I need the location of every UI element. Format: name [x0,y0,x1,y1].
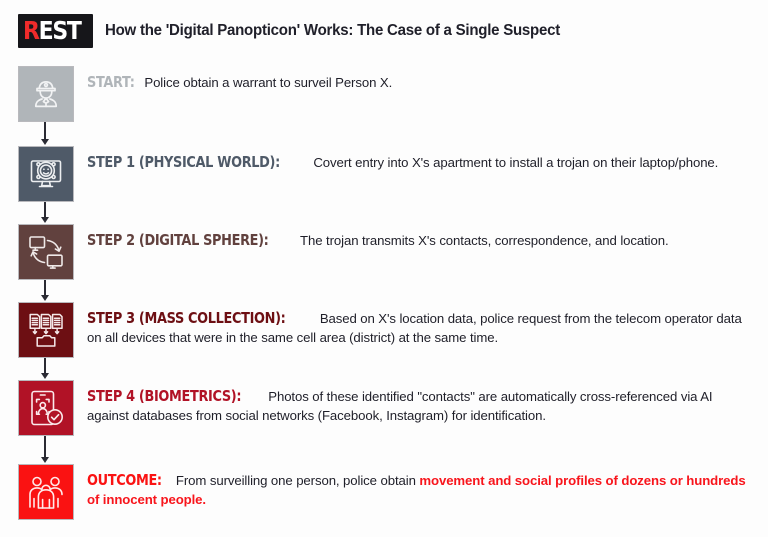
step-text-step-2: STEP 2 (DIGITAL SPHERE):The trojan trans… [87,224,669,251]
infographic-canvas: REST How the 'Digital Panopticon' Works:… [0,0,768,537]
step-text-step-3: STEP 3 (MASS COLLECTION):Based on X's lo… [87,302,747,348]
step-label-step-2: STEP 2 (DIGITAL SPHERE): [87,230,269,251]
step-label-outcome: OUTCOME: [87,470,162,491]
connector-step1-to-step2 [44,202,46,224]
data-transfer-monitors-icon [18,224,74,280]
step-row-outcome: OUTCOME:From surveilling one person, pol… [18,464,747,520]
monitor-trojan-icon [18,146,74,202]
step-row-step-1: STEP 1 (PHYSICAL WORLD):Covert entry int… [18,146,718,202]
logo-letters-est: EST [39,16,81,45]
step-body-start: Police obtain a warrant to surveil Perso… [144,75,392,90]
connector-step4-to-outcome [44,436,46,464]
step-row-start: START:Police obtain a warrant to surveil… [18,66,392,122]
police-officer-icon [18,66,74,122]
documents-to-folder-icon [18,302,74,358]
connector-start-to-step1 [44,122,46,146]
step-text-outcome: OUTCOME:From surveilling one person, pol… [87,464,747,510]
step-row-step-4: STEP 4 (BIOMETRICS):Photos of these iden… [18,380,747,436]
step-label-step-4: STEP 4 (BIOMETRICS): [87,386,241,407]
rest-logo: REST [18,14,93,48]
step-body-step-2: The trojan transmits X's contacts, corre… [300,233,669,248]
step-text-start: START:Police obtain a warrant to surveil… [87,66,392,93]
logo-letter-r: R [23,16,39,45]
connector-step3-to-step4 [44,358,46,380]
group-of-people-icon [18,464,74,520]
face-recognition-phone-icon [18,380,74,436]
step-label-step-1: STEP 1 (PHYSICAL WORLD): [87,152,280,173]
page-title: How the 'Digital Panopticon' Works: The … [105,22,560,40]
step-text-step-1: STEP 1 (PHYSICAL WORLD):Covert entry int… [87,146,718,173]
step-text-step-4: STEP 4 (BIOMETRICS):Photos of these iden… [87,380,747,426]
step-label-step-3: STEP 3 (MASS COLLECTION): [87,308,285,329]
step-label-start: START: [87,72,135,93]
header: REST How the 'Digital Panopticon' Works:… [18,14,574,48]
step-row-step-3: STEP 3 (MASS COLLECTION):Based on X's lo… [18,302,747,358]
connector-step2-to-step3 [44,280,46,302]
step-body-outcome: From surveilling one person, police obta… [176,473,419,488]
step-row-step-2: STEP 2 (DIGITAL SPHERE):The trojan trans… [18,224,669,280]
step-body-step-1: Covert entry into X's apartment to insta… [313,155,718,170]
